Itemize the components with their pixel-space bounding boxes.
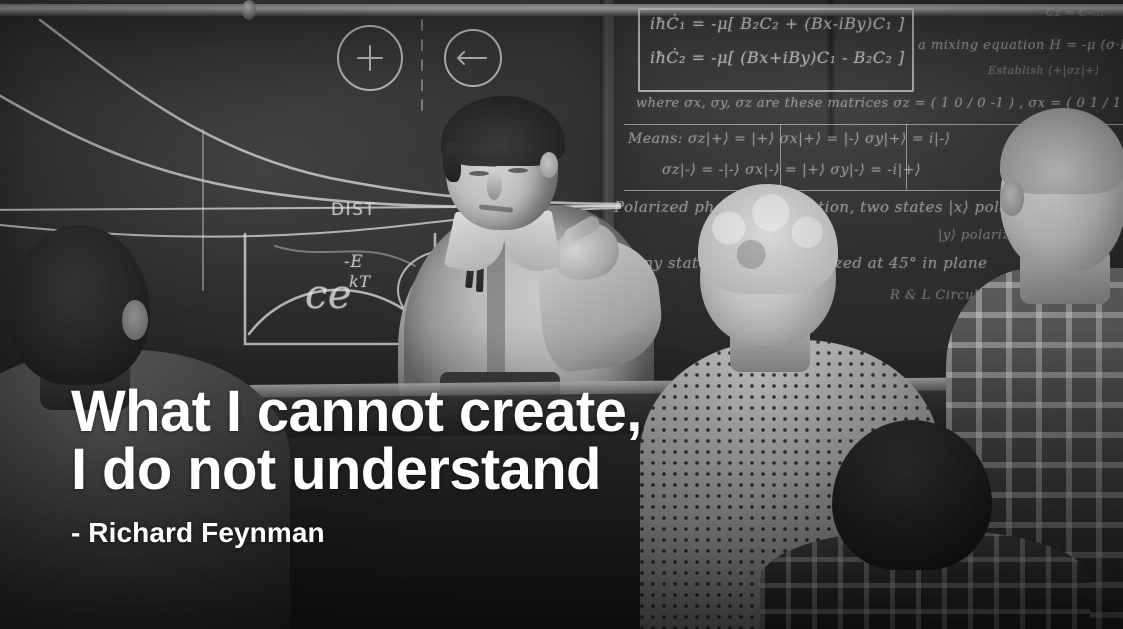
means-line-2: σz|-⟩ = -|-⟩ σx|-⟩ = |+⟩ σy|-⟩ = -i|+⟩ [662, 162, 921, 178]
feynman-eye-left [469, 171, 489, 176]
quote-line-2: I do not understand [71, 441, 642, 499]
student-left-dark-hair-ear [122, 300, 148, 340]
corner-line: Cz = C-... [1046, 6, 1104, 19]
student-right-plaid-ear [1000, 180, 1024, 216]
boltzmann-exponent-denominator: kT [349, 272, 370, 291]
boxed-equation-2: iħĊ₂ = -μ[ (B𝑥+iB𝑦)C₁ - B₂C₂ ] [650, 48, 905, 67]
chalk-rail-top [0, 4, 1123, 16]
means-line: Means: σz|+⟩ = |+⟩ σx|+⟩ = |-⟩ σy|+⟩ = i… [628, 131, 950, 147]
feynman-eye-right [508, 168, 528, 173]
boltzmann-exponent-numerator: -E [344, 252, 363, 272]
dist-label: DIST [331, 200, 376, 220]
quote-overlay: What I cannot create, I do not understan… [71, 383, 642, 549]
expectation-line: Establish ⟨+|σz|+⟩ [988, 64, 1100, 77]
feynman-ear [540, 152, 558, 178]
mixing-equation-line: a mixing equation H = -μ (σ·B) [918, 38, 1123, 53]
quote-attribution: - Richard Feynman [71, 517, 642, 549]
chalk-rail-knob [242, 0, 256, 20]
quote-image-canvas: DIST ce -E kT iħĊ₁ = -μ[ B₂C₂ + (B𝑥-iB𝑦)… [0, 0, 1123, 629]
boxed-equation-1: iħĊ₁ = -μ[ B₂C₂ + (B𝑥-iB𝑦)C₁ ] [650, 14, 905, 33]
polarized-photon-line: Polarized photon ... direction, two stat… [614, 198, 1050, 216]
feynman-sideburn [443, 142, 461, 182]
boltzmann-factor-label: ce [305, 272, 352, 318]
quote-line-1: What I cannot create, [71, 383, 642, 441]
